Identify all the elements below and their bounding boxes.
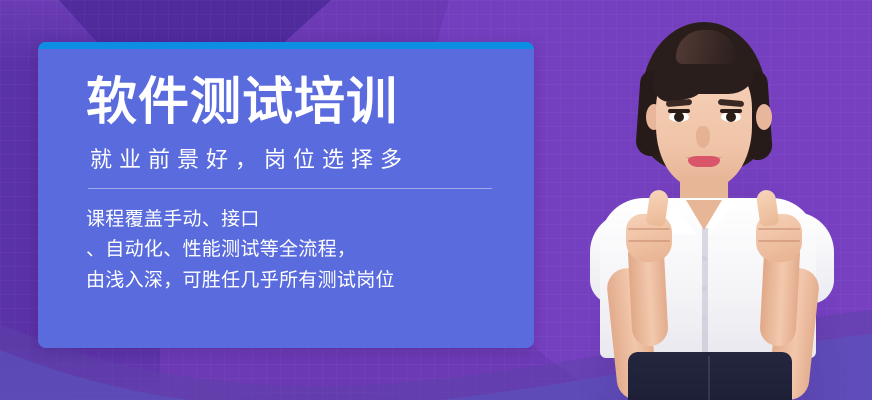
description: 课程覆盖手动、接口 、自动化、性能测试等全流程， 由浅入深，可胜任几乎所有测试岗…	[86, 205, 504, 296]
card-content: 软件测试培训 就业前景好，岗位选择多 课程覆盖手动、接口 、自动化、性能测试等全…	[38, 49, 534, 348]
eyelash-left	[668, 109, 690, 113]
subtitle: 就业前景好，岗位选择多	[90, 142, 504, 174]
description-line: 由浅入深，可胜任几乎所有测试岗位	[86, 266, 504, 296]
nose	[696, 126, 710, 148]
description-line: 、自动化、性能测试等全流程，	[86, 235, 504, 265]
page-title: 软件测试培训	[86, 75, 504, 128]
knuckle-line	[758, 240, 800, 242]
pupil-left	[674, 112, 684, 122]
navy-skirt	[628, 352, 792, 400]
ear-right	[756, 104, 772, 130]
eye-left	[669, 112, 689, 122]
eyelash-right	[720, 109, 742, 113]
divider	[88, 188, 492, 189]
knuckle-line	[758, 228, 800, 230]
eye-right	[721, 112, 741, 122]
knuckle-line	[628, 228, 670, 230]
pupil-right	[726, 112, 736, 122]
knuckle-line	[628, 240, 670, 242]
shirt-button	[702, 256, 707, 261]
description-line: 课程覆盖手动、接口	[86, 205, 504, 235]
info-card: 软件测试培训 就业前景好，岗位选择多 课程覆盖手动、接口 、自动化、性能测试等全…	[38, 42, 534, 348]
shirt-button	[702, 316, 707, 321]
shirt-placket	[702, 228, 708, 356]
shirt-button	[702, 286, 707, 291]
card-accent-bar	[38, 42, 534, 49]
presenter-photo	[556, 0, 872, 400]
skirt-seam	[708, 356, 710, 400]
promo-banner: 软件测试培训 就业前景好，岗位选择多 课程覆盖手动、接口 、自动化、性能测试等全…	[0, 0, 872, 400]
lips	[688, 156, 720, 167]
